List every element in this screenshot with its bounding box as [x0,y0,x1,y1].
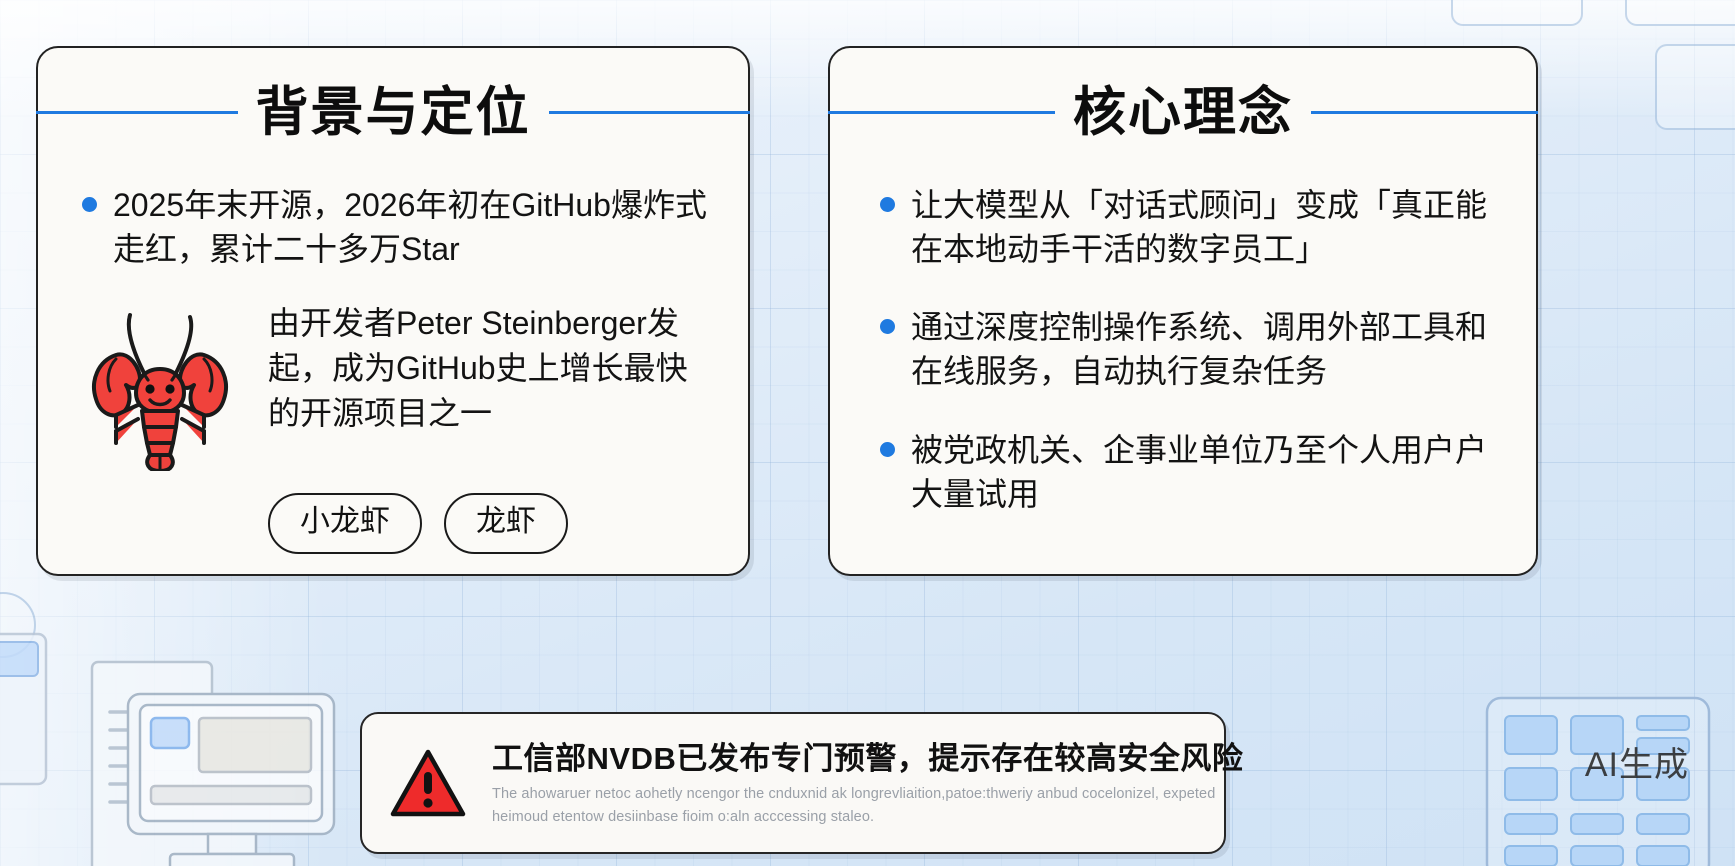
right-card-body: 让大模型从「对话式顾问」变成「真正能在本地动手干活的数字员工」 通过深度控制操作… [830,183,1536,516]
bullet-dot-icon [82,197,97,212]
left-card-title: 背景与定位 [256,86,531,139]
warning-title: 工信部NVDB已发布专门预警，提示存在较高安全风险 [492,740,1196,777]
list-item: 被党政机关、企事业单位乃至个人用户户大量试用 [880,428,1496,516]
tag-pill-1[interactable]: 小龙虾 [268,493,422,554]
right-card-title-row: 核心理念 [830,86,1536,139]
security-warning-banner: 工信部NVDB已发布专门预警，提示存在较高安全风险 The ahowaruer … [360,712,1226,854]
desktop-monitor-icon [0,606,350,866]
window-frame-icon [1655,44,1735,130]
right-bullet-text: 通过深度控制操作系统、调用外部工具和在线服务，自动执行复杂任务 [911,305,1496,393]
window-frame-icon [1625,0,1735,26]
tag-list: 小龙虾 龙虾 [268,493,712,554]
title-rule-left [828,111,1055,114]
left-card-title-row: 背景与定位 [38,86,748,139]
lobster-description: 由开发者Peter Steinberger发起，成为GitHub史上增长最快的开… [268,297,712,435]
title-rule-right [549,111,751,114]
warning-subtext-line2: heimoud etentow desiinbase fioim o:aln a… [492,806,1196,828]
bullet-dot-icon [880,319,895,334]
warning-triangle-icon [390,748,466,818]
warning-subtext-line1: The ahowaruer netoc aohetly ncengor the … [492,783,1196,805]
list-item: 让大模型从「对话式顾问」变成「真正能在本地动手干活的数字员工」 [880,183,1496,271]
title-rule-right [1311,111,1538,114]
core-philosophy-card: 核心理念 让大模型从「对话式顾问」变成「真正能在本地动手干活的数字员工」 通过深… [828,46,1538,576]
left-bullet-text: 2025年末开源，2026年初在GitHub爆炸式走红，累计二十多万Star [113,183,712,271]
left-card-body: 2025年末开源，2026年初在GitHub爆炸式走红，累计二十多万Star [38,183,748,554]
lobster-icon [82,301,242,471]
lobster-info-block: 由开发者Peter Steinberger发起，成为GitHub史上增长最快的开… [82,297,712,471]
bullet-dot-icon [880,442,895,457]
right-bullet-list: 让大模型从「对话式顾问」变成「真正能在本地动手干活的数字员工」 通过深度控制操作… [880,183,1496,516]
ai-generated-watermark: AI生成 [1585,737,1689,786]
list-item: 2025年末开源，2026年初在GitHub爆炸式走红，累计二十多万Star [82,183,712,271]
background-positioning-card: 背景与定位 2025年末开源，2026年初在GitHub爆炸式走红，累计二十多万… [36,46,750,576]
right-card-title: 核心理念 [1073,86,1293,139]
window-frame-icon [1451,0,1583,26]
right-bullet-text: 让大模型从「对话式顾问」变成「真正能在本地动手干活的数字员工」 [911,183,1496,271]
list-item: 通过深度控制操作系统、调用外部工具和在线服务，自动执行复杂任务 [880,305,1496,393]
title-rule-left [36,111,238,114]
bullet-dot-icon [880,197,895,212]
right-bullet-text: 被党政机关、企事业单位乃至个人用户户大量试用 [911,428,1496,516]
warning-text-group: 工信部NVDB已发布专门预警，提示存在较高安全风险 The ahowaruer … [492,738,1196,828]
tag-pill-2[interactable]: 龙虾 [444,493,568,554]
